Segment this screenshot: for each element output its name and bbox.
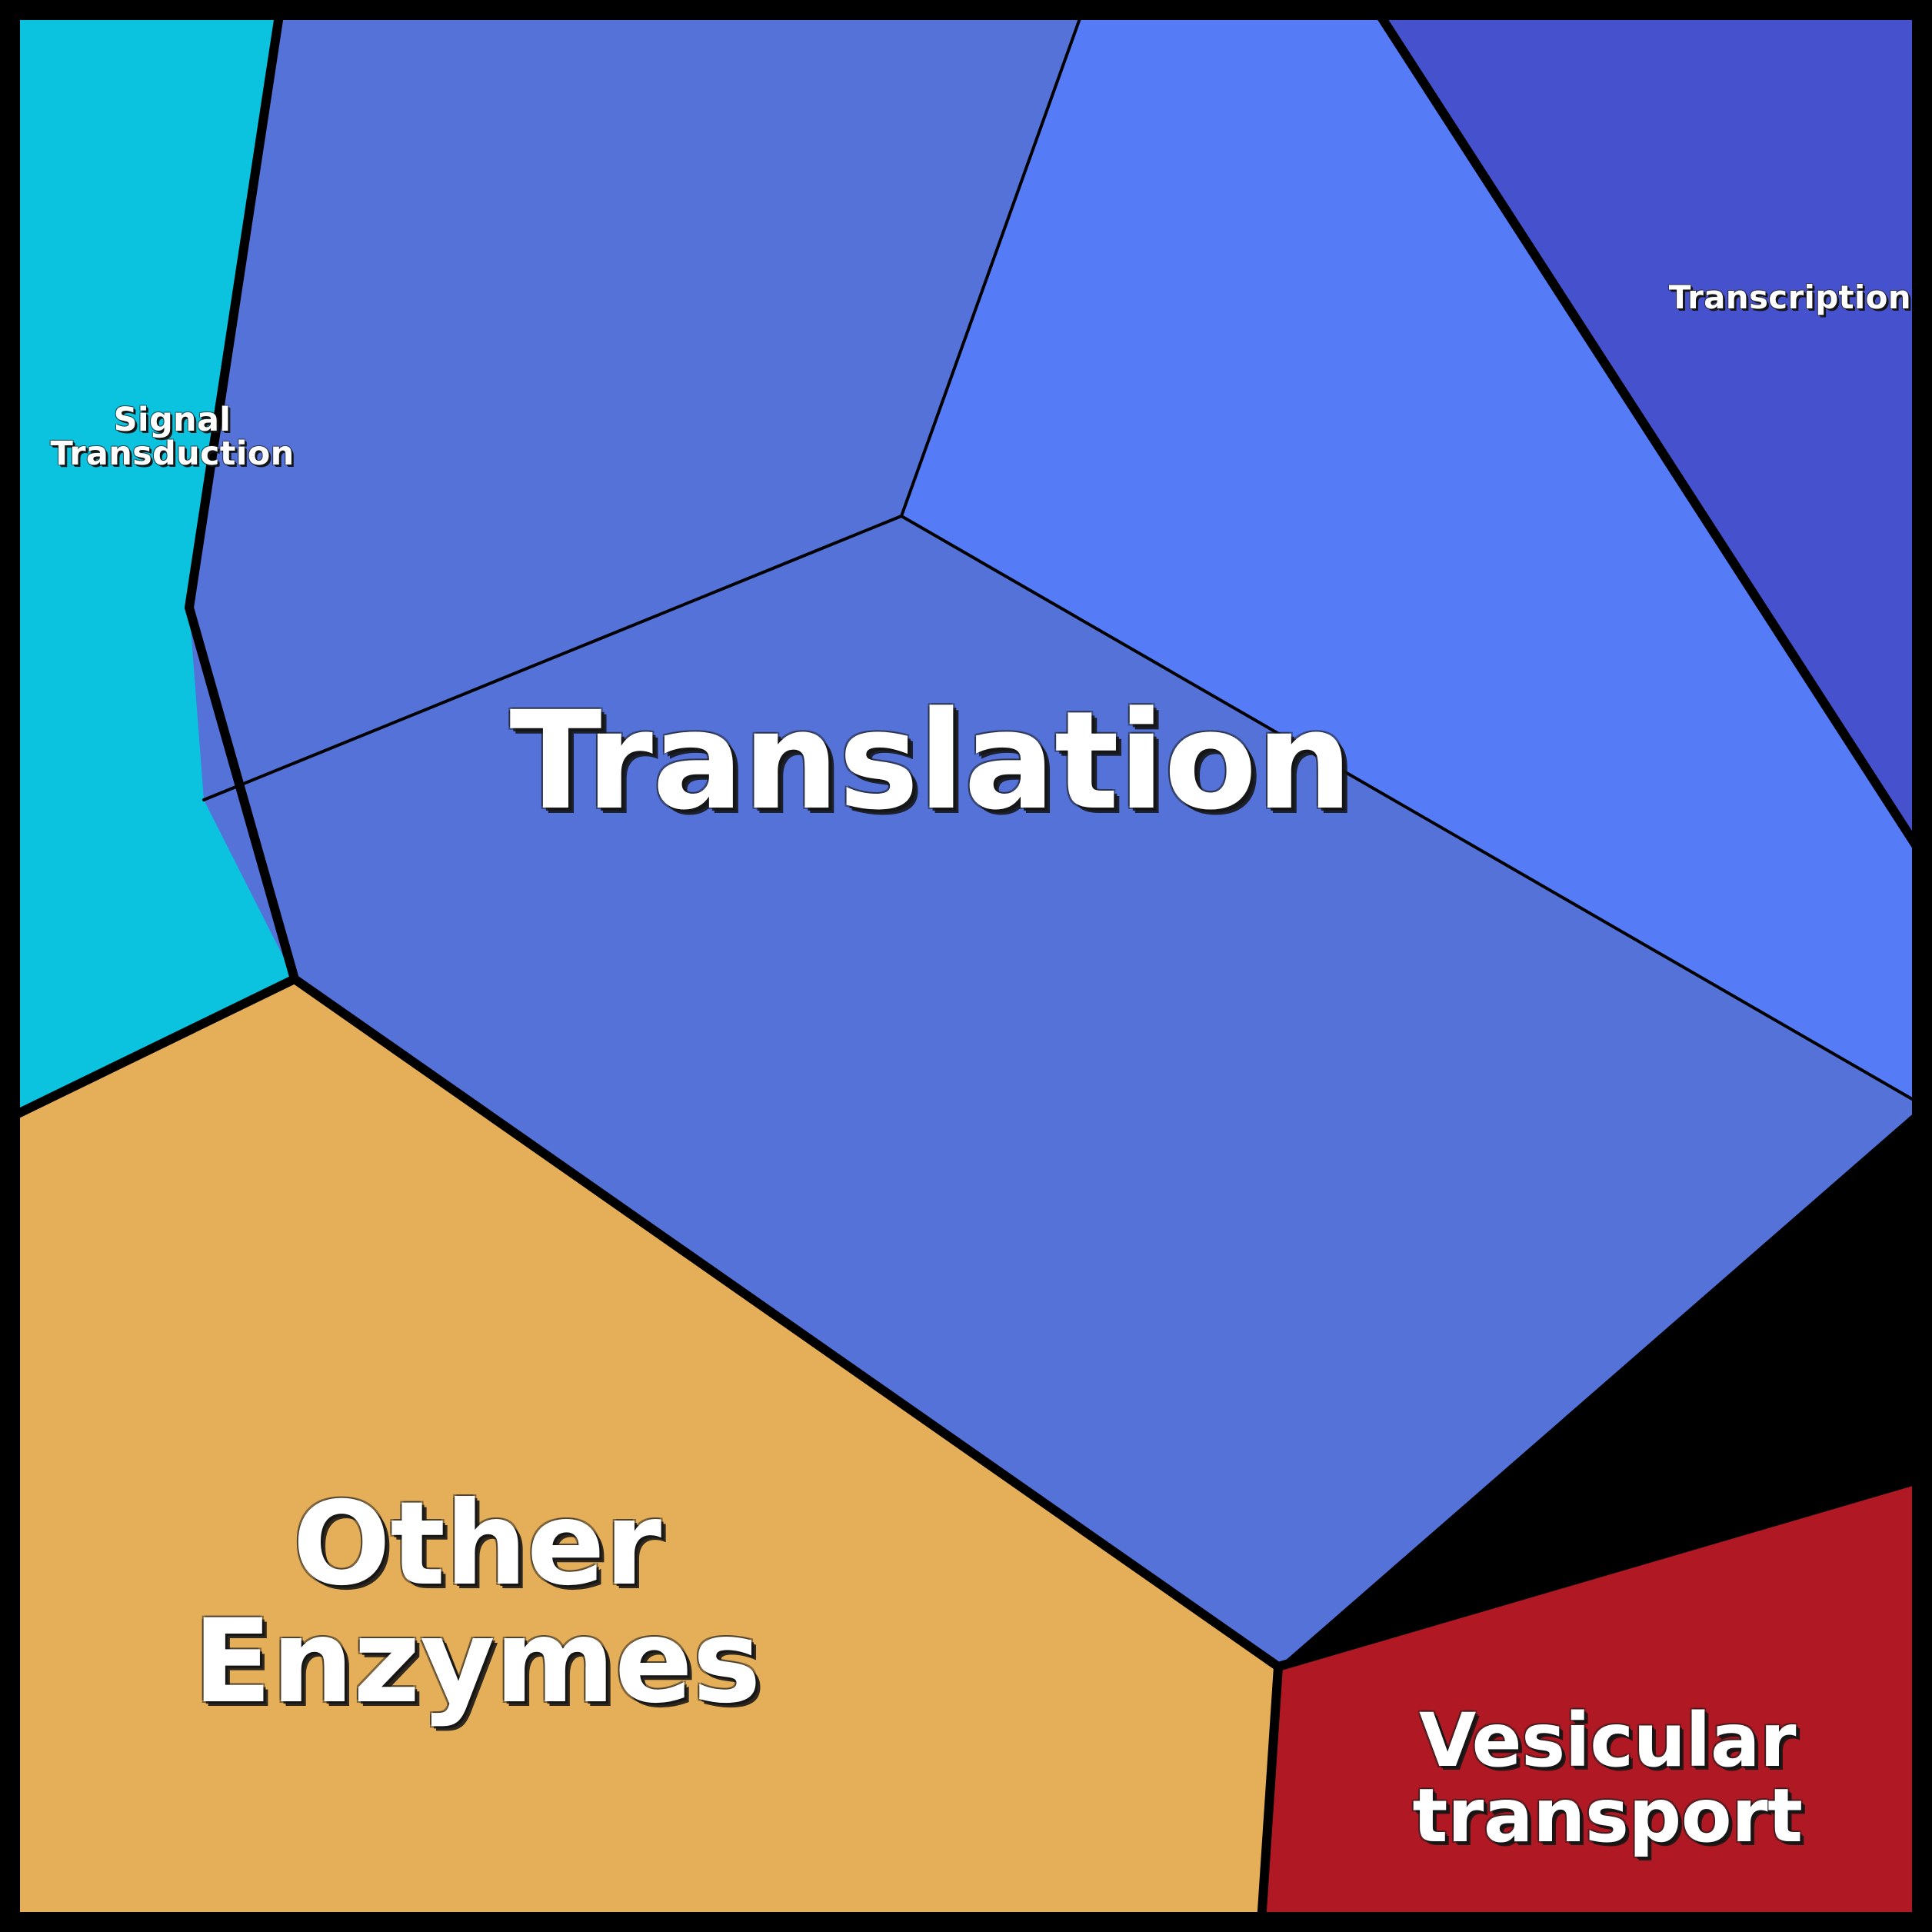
voronoi-treemap-canvas: [0, 0, 1932, 1932]
voronoi-treemap-diagram: Signal Transduction Translation Transcri…: [0, 0, 1932, 1932]
voronoi-cells: [10, 10, 1923, 1922]
